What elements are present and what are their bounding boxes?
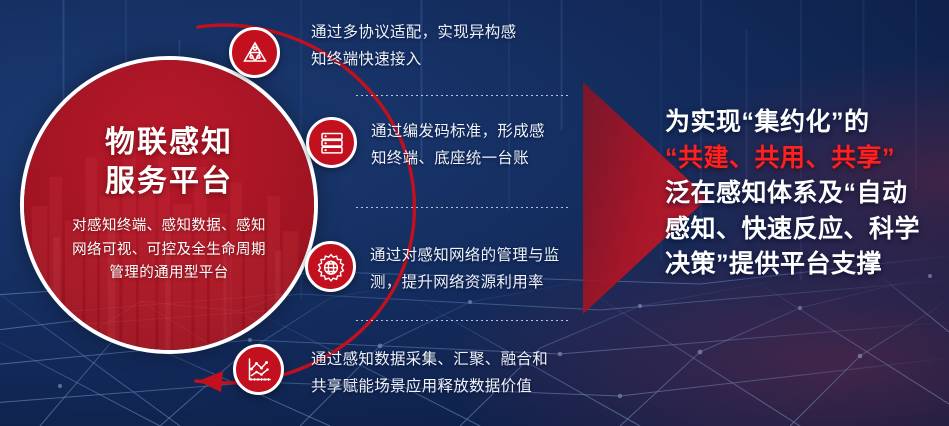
triangle-network-icon (240, 38, 270, 68)
feature-text-3: 通过对感知网络的管理与监 测，提升网络资源利用率 (370, 243, 640, 296)
server-stack-icon (318, 129, 346, 157)
divider-line-1 (356, 95, 570, 96)
feature-text-2: 通过编发码标准，形成感 知终端、底座统一台账 (371, 119, 641, 172)
divider-line-2 (356, 207, 570, 208)
infographic-canvas: 物联感知 服务平台 对感知终端、感知数据、感知 网络可视、可控及全生命周期 管理… (0, 0, 949, 426)
circle-description: 对感知终端、感知数据、感知 网络可视、可控及全生命周期 管理的通用型平台 (72, 215, 266, 285)
feature-1-line2: 知终端快速接入 (311, 47, 581, 74)
feature-4-line2: 共享赋能场景应用释放数据价值 (311, 374, 581, 401)
feature-1-line1: 通过多协议适配，实现异构感 (311, 20, 581, 47)
conclusion-text-block: 为实现“集约化”的 “共建、共用、共享” 泛在感知体系及“自动 感知、快速反应、… (665, 105, 937, 283)
feature-badge-1[interactable] (229, 27, 280, 78)
circle-desc-line1: 对感知终端、感知数据、感知 (72, 215, 266, 238)
circle-title: 物联感知 服务平台 (105, 124, 233, 201)
circle-desc-line2: 网络可视、可控及全生命周期 (72, 239, 266, 262)
feature-badge-3[interactable] (305, 241, 356, 292)
circle-desc-line3: 管理的通用型平台 (72, 262, 266, 285)
feature-2-line1: 通过编发码标准，形成感 (371, 119, 641, 146)
conclusion-line-2-highlight: “共建、共用、共享” (665, 141, 937, 177)
feature-text-4: 通过感知数据采集、汇聚、融合和 共享赋能场景应用释放数据价值 (311, 347, 581, 400)
feature-2-line2: 知终端、底座统一台账 (371, 146, 641, 173)
conclusion-line-5: 决策”提供平台支撑 (665, 247, 937, 283)
gear-globe-icon (316, 252, 346, 282)
feature-3-line2: 测，提升网络资源利用率 (370, 270, 640, 297)
feature-badge-4[interactable] (233, 344, 284, 395)
feature-text-1: 通过多协议适配，实现异构感 知终端快速接入 (311, 20, 581, 73)
divider-line-3 (356, 320, 570, 321)
circle-text-block: 物联感知 服务平台 对感知终端、感知数据、感知 网络可视、可控及全生命周期 管理… (24, 60, 314, 350)
conclusion-line-1: 为实现“集约化”的 (665, 105, 937, 141)
line-chart-icon (244, 355, 274, 385)
conclusion-line-3: 泛在感知体系及“自动 (665, 176, 937, 212)
feature-4-line1: 通过感知数据采集、汇聚、融合和 (311, 347, 581, 374)
circle-title-line2: 服务平台 (105, 163, 233, 201)
feature-badge-2[interactable] (306, 117, 357, 168)
feature-3-line1: 通过对感知网络的管理与监 (370, 243, 640, 270)
central-platform-circle: 物联感知 服务平台 对感知终端、感知数据、感知 网络可视、可控及全生命周期 管理… (20, 56, 318, 354)
conclusion-line-4: 感知、快速反应、科学 (665, 212, 937, 248)
circle-title-line1: 物联感知 (105, 124, 233, 162)
